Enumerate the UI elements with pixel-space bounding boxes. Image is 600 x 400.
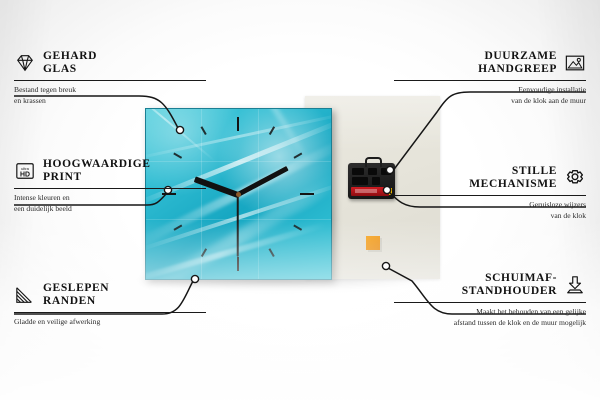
feature-title-line2: HANDGREEP (478, 63, 557, 76)
feature-title-line2: RANDEN (43, 295, 96, 308)
feature-title-line1: DUURZAME (484, 50, 557, 63)
movement-hook-icon (365, 157, 382, 167)
feature-duurzame-handgreep: DUURZAME HANDGREEP Eenvoudige installati… (394, 50, 586, 106)
feature-title-line1: SCHUIMAF- (485, 272, 557, 285)
picture-frame-icon (564, 53, 586, 73)
feature-rule (14, 312, 206, 313)
ultra-hd-icon: ultra HD (14, 161, 36, 181)
feature-desc-line1: Bestand tegen breuk (14, 84, 206, 95)
feature-geslepen-randen: GESLEPEN RANDEN Gladde en veilige afwerk… (14, 282, 206, 327)
feature-schuimafstandhouder: SCHUIMAF- STANDHOUDER Maakt het behouden… (394, 272, 586, 328)
feature-title-line2: GLAS (43, 63, 77, 76)
feature-desc-line2: van de klok (394, 210, 586, 221)
press-down-icon (564, 275, 586, 295)
feature-desc-line1: Intense kleuren en (14, 192, 206, 203)
feature-title-line1: STILLE (512, 165, 557, 178)
feature-rule (394, 80, 586, 81)
battery (351, 187, 389, 196)
clock-movement (348, 163, 395, 199)
feature-hoogwaardige-print: ultra HD HOOGWAARDIGE PRINT Intense kleu… (14, 158, 206, 214)
feature-rule (394, 195, 586, 196)
feature-rule (14, 188, 206, 189)
beveled-edge-icon (14, 285, 36, 305)
clock-second-hand (237, 195, 239, 257)
clock-minute-hand (237, 166, 289, 197)
feature-title-line2: PRINT (43, 171, 82, 184)
diamond-icon (14, 53, 36, 73)
feature-desc-line1: Maakt het behouden van een gelijke (394, 306, 586, 317)
ultra-hd-large-text: HD (20, 171, 30, 178)
feature-desc-line1: Gladde en veilige afwerking (14, 316, 206, 327)
gear-icon (564, 168, 586, 188)
feature-gehard-glas: GEHARD GLAS Bestand tegen breuk en krass… (14, 50, 206, 106)
feature-title-line1: GEHARD (43, 50, 97, 63)
feature-desc-line2: een duidelijk beeld (14, 203, 206, 214)
feature-title-line2: MECHANISME (469, 178, 557, 191)
foam-spacer (366, 236, 380, 250)
feature-stille-mechanisme: STILLE MECHANISME Geruisloze wijzers van… (394, 165, 586, 221)
feature-desc-line1: Eenvoudige installatie (394, 84, 586, 95)
feature-desc-line2: en krassen (14, 95, 206, 106)
feature-desc-line2: afstand tussen de klok en de muur mogeli… (394, 317, 586, 328)
ultra-hd-small-text: ultra (21, 166, 30, 171)
feature-desc-line1: Geruisloze wijzers (394, 199, 586, 210)
feature-rule (14, 80, 206, 81)
feature-title-line1: HOOGWAARDIGE (43, 158, 151, 171)
infographic-canvas: GEHARD GLAS Bestand tegen breuk en krass… (0, 0, 600, 400)
feature-title-line1: GESLEPEN (43, 282, 109, 295)
feature-desc-line2: van de klok aan de muur (394, 95, 586, 106)
feature-rule (394, 302, 586, 303)
clock-centre-pin (236, 192, 241, 197)
feature-title-line2: STANDHOUDER (462, 285, 557, 298)
